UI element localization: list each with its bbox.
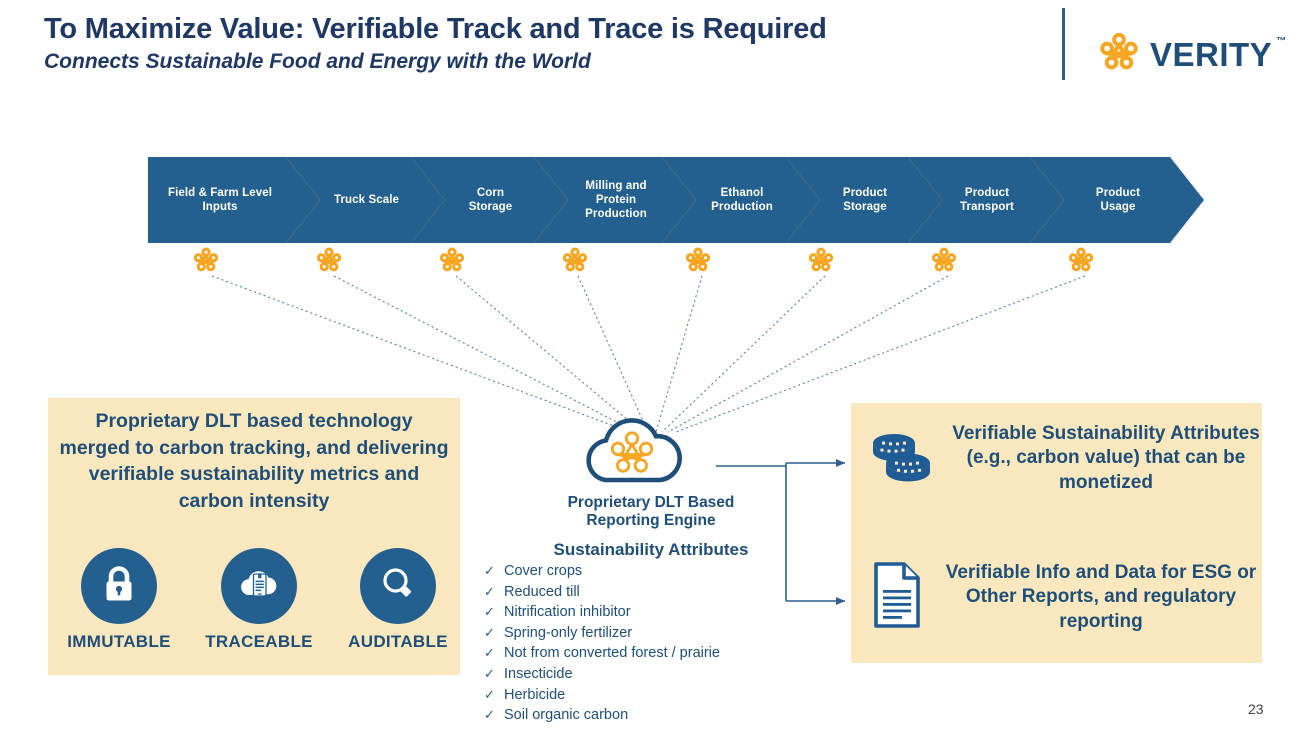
pillar-icon-circle (360, 548, 436, 624)
check-icon: ✓ (484, 664, 494, 684)
coins-stack-icon (868, 425, 936, 492)
attribute-item: ✓Insecticide (484, 664, 814, 685)
verity-molecule-node-icon (438, 246, 466, 279)
flow-stage-label: Truck Scale (324, 193, 409, 207)
check-icon: ✓ (484, 643, 494, 663)
flow-stage-1[interactable]: Field & Farm LevelInputs (148, 157, 320, 243)
check-icon: ✓ (484, 685, 494, 705)
verity-molecule-node-icon (684, 246, 712, 279)
verity-molecule-node-icon (192, 246, 220, 279)
header-divider (1062, 8, 1065, 80)
outcome-reporting: Verifiable Info and Data for ESG or Othe… (868, 560, 1260, 635)
attribute-label: Cover crops (504, 562, 582, 582)
flow-stage-label: Milling andProteinProduction (572, 179, 660, 221)
attribute-item: ✓Nitrification inhibitor (484, 602, 814, 623)
check-icon: ✓ (484, 602, 494, 622)
outcome-monetization: Verifiable Sustainability Attributes (e.… (868, 422, 1260, 495)
cloud-caption-line2: Reporting Engine (535, 512, 767, 530)
check-icon: ✓ (484, 623, 494, 643)
verity-molecule-node-icon (1067, 246, 1095, 279)
attribute-label: Reduced till (504, 583, 580, 603)
page-subtitle: Connects Sustainable Food and Energy wit… (44, 50, 1044, 73)
attribute-label: Nitrification inhibitor (504, 603, 631, 623)
brand-trademark: ™ (1276, 36, 1286, 47)
flow-stage-label: ProductUsage (1068, 186, 1168, 214)
pillar-label: IMMUTABLE (54, 632, 184, 652)
attribute-label: Not from converted forest / prairie (504, 644, 720, 664)
attribute-item: ✓Reduced till (484, 582, 814, 603)
brand-wordmark: VERITY (1150, 38, 1272, 71)
flow-stage-label: CornStorage (449, 186, 532, 214)
attribute-item: ✓Herbicide (484, 685, 814, 706)
cloud-caption-line1: Proprietary DLT Based (535, 494, 767, 512)
outcome-text: Verifiable Sustainability Attributes (e.… (952, 422, 1260, 495)
flow-stage-label: Field & Farm LevelInputs (156, 186, 284, 214)
pillar-label: AUDITABLE (333, 632, 463, 652)
pillar-label: TRACEABLE (194, 632, 324, 652)
cloud-with-verity-molecule-icon (572, 414, 727, 486)
flow-stage-label: ProductStorage (824, 186, 906, 214)
verity-molecule-node-icon (561, 246, 589, 279)
document-report-icon (868, 560, 926, 635)
check-icon: ✓ (484, 582, 494, 602)
flow-stage-label: EthanolProduction (700, 186, 784, 214)
magnifying-glass-icon (377, 563, 419, 610)
attribute-item: ✓Soil organic carbon (484, 705, 814, 726)
cloud-caption: Proprietary DLT Based Reporting Engine (535, 494, 767, 531)
attribute-label: Herbicide (504, 686, 565, 706)
pillar-immutable[interactable]: IMMUTABLE (54, 548, 184, 652)
left-panel-text: Proprietary DLT based technology merged … (58, 408, 450, 515)
check-icon: ✓ (484, 561, 494, 581)
verity-molecule-icon (1097, 30, 1141, 79)
cloud-document-icon (235, 563, 283, 610)
brand-logo: VERITY ™ (1097, 30, 1282, 78)
attributes-list: ✓Cover crops✓Reduced till✓Nitrification … (484, 561, 814, 726)
process-flow: Field & Farm LevelInputsTruck ScaleCornS… (148, 157, 1170, 243)
pillar-auditable[interactable]: AUDITABLE (333, 548, 463, 652)
page-title: To Maximize Value: Verifiable Track and … (44, 14, 1044, 44)
lock-icon (99, 563, 139, 610)
attribute-label: Insecticide (504, 665, 573, 685)
attribute-item: ✓Cover crops (484, 561, 814, 582)
page-number: 23 (1248, 701, 1264, 717)
attribute-item: ✓Not from converted forest / prairie (484, 643, 814, 664)
attribute-label: Soil organic carbon (504, 706, 628, 726)
check-icon: ✓ (484, 705, 494, 725)
attribute-item: ✓Spring-only fertilizer (484, 623, 814, 644)
verity-molecule-node-icon (930, 246, 958, 279)
pillar-icon-circle (81, 548, 157, 624)
verity-molecule-node-icon (315, 246, 343, 279)
flow-stage-label: ProductTransport (946, 186, 1028, 214)
outcome-text: Verifiable Info and Data for ESG or Othe… (942, 561, 1260, 634)
pillar-traceable[interactable]: TRACEABLE (194, 548, 324, 652)
attribute-label: Spring-only fertilizer (504, 624, 632, 644)
verity-molecule-node-icon (807, 246, 835, 279)
attributes-heading: Sustainability Attributes (520, 540, 782, 560)
pillar-icon-circle (221, 548, 297, 624)
